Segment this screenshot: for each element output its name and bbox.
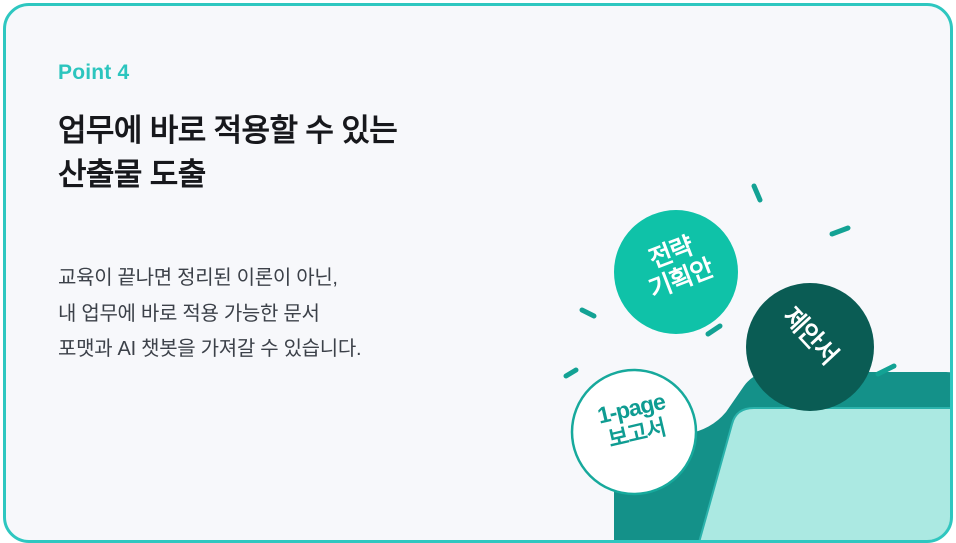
body-paragraph: 교육이 끝나면 정리된 이론이 아닌, 내 업무에 바로 적용 가능한 문서 포…: [58, 261, 528, 368]
accent-dash-6: [566, 370, 576, 376]
accent-dash-1: [754, 186, 760, 200]
illustration-svg: [526, 156, 953, 543]
text-column: Point 4 업무에 바로 적용할 수 있는 산출물 도출 교육이 끝나면 정…: [58, 62, 528, 368]
bubble-strategy[interactable]: [614, 210, 738, 334]
page-title: 업무에 바로 적용할 수 있는 산출물 도출: [58, 109, 528, 197]
accent-dash-4: [708, 326, 720, 334]
bubble-proposal[interactable]: [746, 283, 874, 411]
accent-dash-2: [832, 228, 848, 234]
point-card: Point 4 업무에 바로 적용할 수 있는 산출물 도출 교육이 끝나면 정…: [3, 3, 953, 543]
accent-dash-3: [582, 310, 594, 316]
folder-front-panel: [698, 408, 953, 543]
illustration: [526, 156, 953, 543]
point-eyebrow-label: Point 4: [58, 62, 528, 83]
bubble-one-page-report[interactable]: [572, 370, 696, 494]
